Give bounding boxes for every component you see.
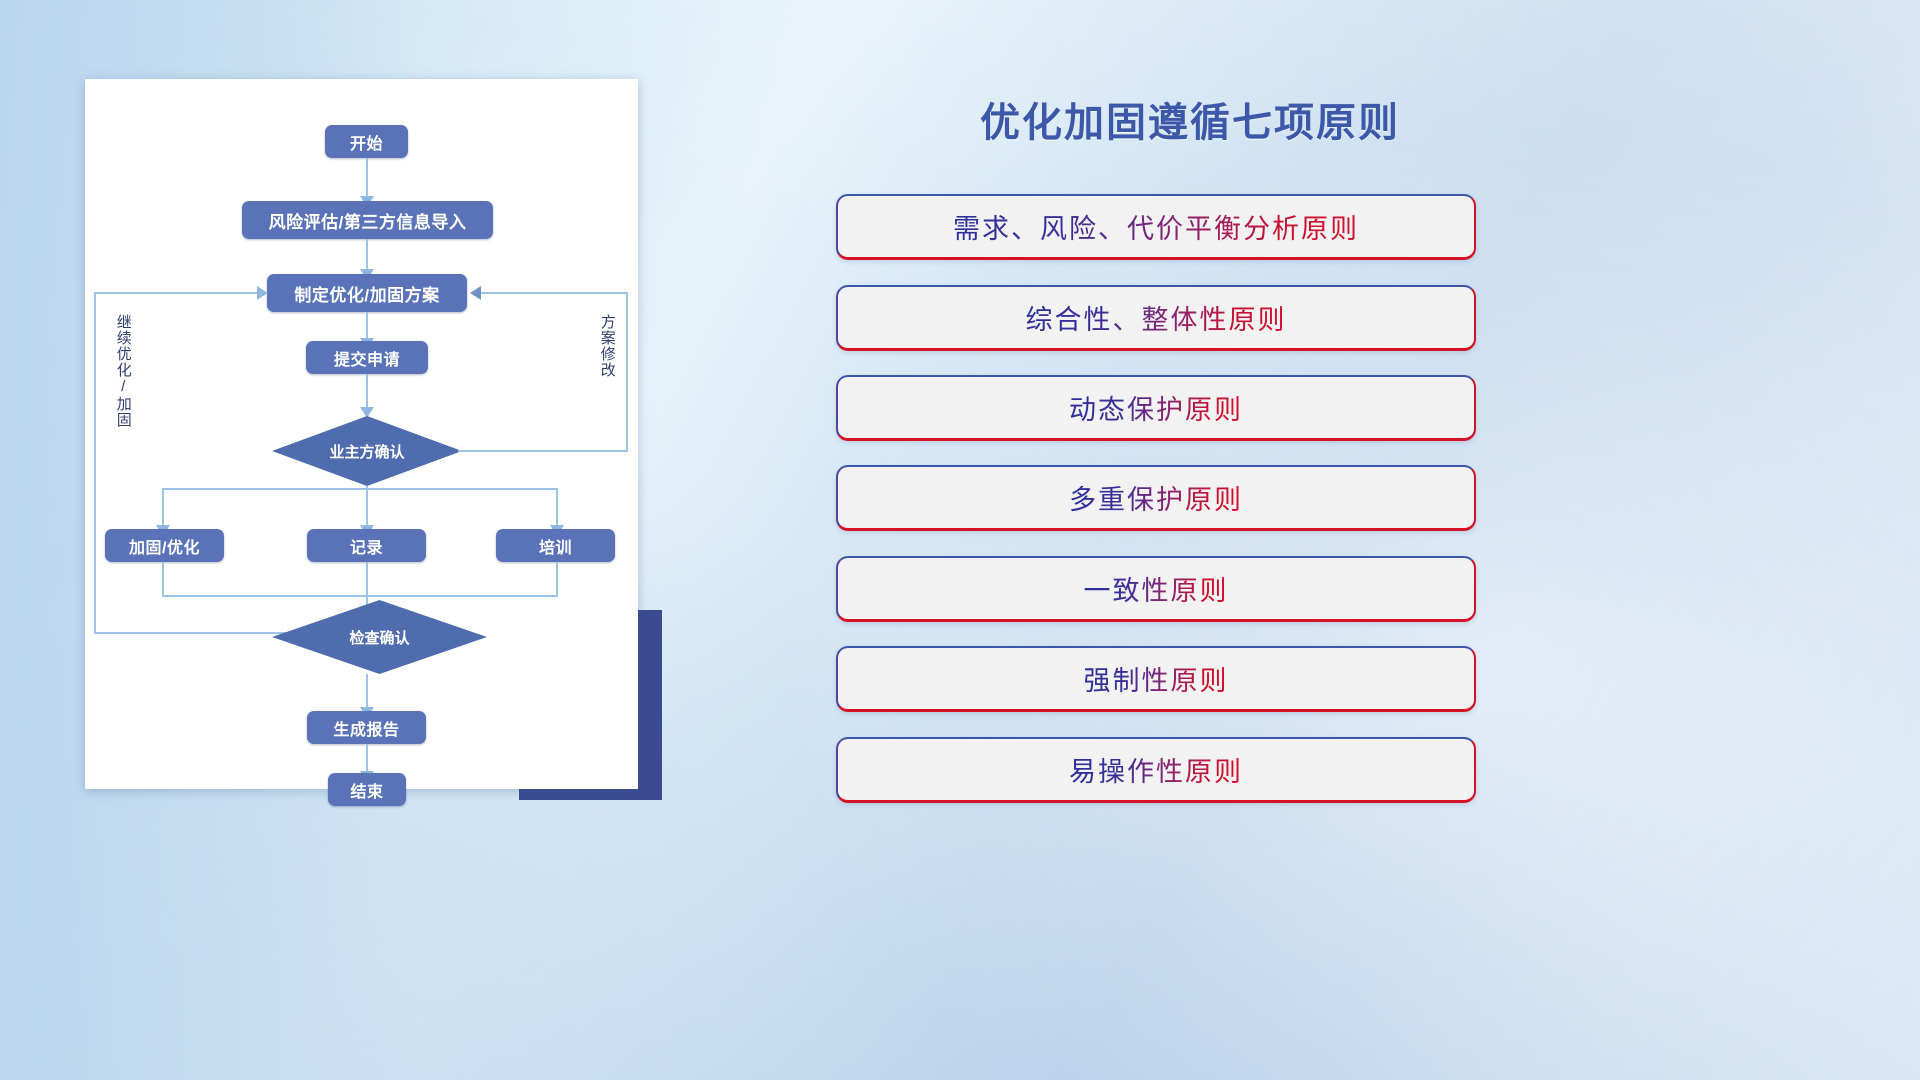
flow-node-submit-application[interactable]: 提交申请 xyxy=(306,341,428,374)
flow-node-end[interactable]: 结束 xyxy=(328,773,406,806)
flow-decision-check-confirm-label: 检查确认 xyxy=(349,627,409,648)
flow-node-training-label: 培训 xyxy=(539,534,572,558)
principle-label-4: 多重保护原则 xyxy=(1069,478,1243,517)
loop-right-vertical xyxy=(626,292,628,452)
flow-node-reinforce-optimize-label: 加固/优化 xyxy=(129,534,200,558)
loop-right-bottom-horizontal xyxy=(458,450,628,452)
loop-left-bottom-horizontal xyxy=(94,632,294,634)
flow-node-record[interactable]: 记录 xyxy=(307,529,426,562)
principle-card-5[interactable]: 一致性原则 xyxy=(836,556,1476,622)
loop-right-top-horizontal xyxy=(481,292,628,294)
flow-node-record-label: 记录 xyxy=(350,534,383,558)
flow-node-make-plan[interactable]: 制定优化/加固方案 xyxy=(267,274,467,312)
merge-bus-bottom xyxy=(162,595,558,597)
flow-node-training[interactable]: 培训 xyxy=(496,529,615,562)
principle-label-2: 综合性、整体性原则 xyxy=(1026,298,1287,337)
principle-label-7: 易操作性原则 xyxy=(1069,750,1243,789)
merge-left-rise xyxy=(162,562,164,597)
flow-node-start[interactable]: 开始 xyxy=(325,125,408,158)
flow-decision-owner-confirm[interactable]: 业主方确认 xyxy=(272,416,462,486)
flowchart-card: 开始 风险评估/第三方信息导入 制定优化/加固方案 提交申请 业主方确认 继续优… xyxy=(85,79,638,789)
principle-label-6: 强制性原则 xyxy=(1084,659,1229,698)
merge-right-rise xyxy=(556,562,558,597)
flow-decision-check-confirm[interactable]: 检查确认 xyxy=(272,600,487,674)
principle-label-1: 需求、风险、代价平衡分析原则 xyxy=(953,207,1359,246)
principle-card-4[interactable]: 多重保护原则 xyxy=(836,465,1476,531)
principle-label-3: 动态保护原则 xyxy=(1069,388,1243,427)
flow-node-submit-application-label: 提交申请 xyxy=(334,346,400,370)
flow-node-reinforce-optimize[interactable]: 加固/优化 xyxy=(105,529,224,562)
flow-decision-owner-confirm-label: 业主方确认 xyxy=(329,441,404,462)
flow-node-generate-report[interactable]: 生成报告 xyxy=(307,711,426,744)
flow-node-risk-assessment[interactable]: 风险评估/第三方信息导入 xyxy=(242,201,493,239)
loop-right-label: 方案修改 xyxy=(599,314,615,378)
flow-node-end-label: 结束 xyxy=(350,778,383,802)
flow-node-start-label: 开始 xyxy=(350,130,383,154)
flow-node-risk-assessment-label: 风险评估/第三方信息导入 xyxy=(269,208,467,233)
principle-card-6[interactable]: 强制性原则 xyxy=(836,646,1476,712)
arrow-left-loop-into-plan xyxy=(257,286,268,300)
principle-card-3[interactable]: 动态保护原则 xyxy=(836,375,1476,441)
flow-node-generate-report-label: 生成报告 xyxy=(333,716,399,740)
branch-bus-top xyxy=(162,488,558,490)
loop-left-top-horizontal xyxy=(94,292,262,294)
flow-node-make-plan-label: 制定优化/加固方案 xyxy=(294,281,439,306)
principle-card-1[interactable]: 需求、风险、代价平衡分析原则 xyxy=(836,194,1476,260)
principle-card-7[interactable]: 易操作性原则 xyxy=(836,737,1476,803)
arrow-right-loop-into-plan xyxy=(470,286,481,300)
loop-left-vertical xyxy=(94,292,96,634)
loop-left-label: 继续优化/加固 xyxy=(115,314,131,428)
principle-card-2[interactable]: 综合性、整体性原则 xyxy=(836,285,1476,351)
principle-label-5: 一致性原则 xyxy=(1084,569,1229,608)
principles-title: 优化加固遵循七项原则 xyxy=(880,90,1500,148)
